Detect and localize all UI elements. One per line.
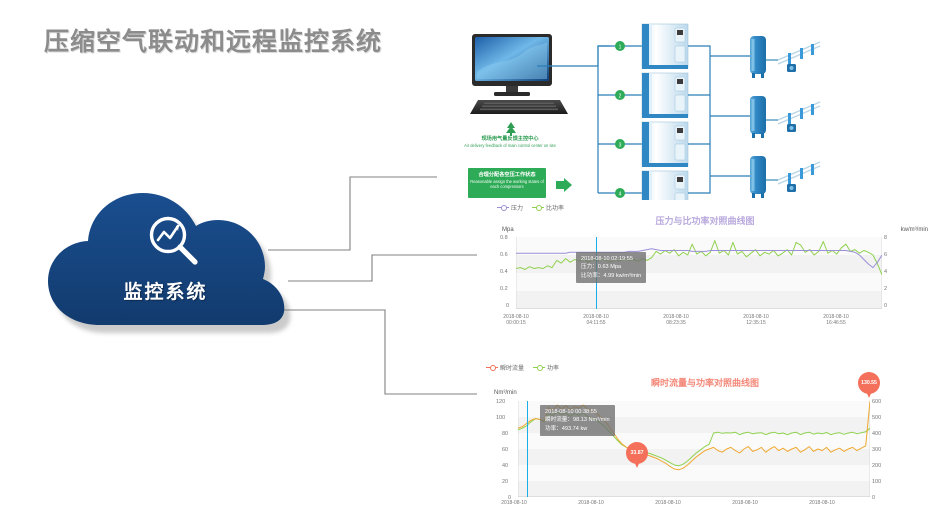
- monitoring-cloud[interactable]: 监控系统: [38, 185, 293, 335]
- chart1-legend-label-0: 压力: [511, 203, 523, 212]
- chart2-ytick-2: 40: [502, 463, 508, 469]
- chart1-tooltip-line2: 比功率：4.99 kw/m³/min: [581, 272, 641, 280]
- chart2-xtick-4-date: 2018-08-10: [809, 500, 835, 506]
- network-topology-svg: 1 2 3 4: [440, 18, 940, 208]
- chart2-xtick-1: 2018-08-10: [563, 500, 619, 506]
- chart1-legend-label-1: 比功率: [546, 203, 564, 212]
- chart1-xtick-4-time: 16:46:55: [826, 320, 845, 326]
- chart1-xtick-3: 2018-08-10 12:35:15: [728, 314, 784, 327]
- chart2-y2tick-4: 400: [872, 431, 881, 437]
- chart2-ytick-6: 120: [496, 399, 505, 405]
- chart1-xtick-1: 2018-08-10 04:11:55: [568, 314, 624, 327]
- chart1-xtick-1-time: 04:11:55: [586, 320, 605, 326]
- legend-marker-icon: [486, 365, 498, 371]
- chart1-xtick-1-date: 2018-08-10: [583, 314, 609, 320]
- chart1-y-axis-unit: Mpa: [502, 227, 514, 233]
- chart1-xtick-2: 2018-08-10 08:23:35: [648, 314, 704, 327]
- chart1-legend: 压力 比功率: [497, 203, 564, 212]
- chart2-tooltip-line1: 瞬时流量：98.13 Nm³/min: [545, 416, 610, 424]
- legend-marker-icon: [533, 365, 545, 371]
- chart1-y2tick-2: 4: [884, 269, 887, 275]
- chart1-xtick-2-time: 08:23:35: [666, 320, 685, 326]
- chart2-tooltip: 2018-08-10 00:38:55 瞬时流量：98.13 Nm³/min 功…: [540, 405, 615, 436]
- chart2-y2tick-3: 300: [872, 447, 881, 453]
- chart2-marker-max[interactable]: 130.55: [858, 372, 880, 400]
- chart2-xtick-1-date: 2018-08-10: [578, 500, 604, 506]
- chart1-ytick-4: 0.8: [500, 235, 508, 241]
- chart2-y2tick-0: 0: [872, 495, 875, 501]
- legend-marker-icon: [532, 205, 544, 211]
- chart1-legend-item-1[interactable]: 比功率: [532, 203, 564, 212]
- chart1-tooltip-timestamp: 2018-08-10 02:19:55: [581, 255, 641, 263]
- svg-text:2: 2: [619, 93, 622, 99]
- chart2-tooltip-timestamp: 2018-08-10 00:38:55: [545, 408, 610, 416]
- chart2-xtick-0-date: 2018-08-10: [501, 500, 527, 506]
- chart1-xtick-3-date: 2018-08-10: [743, 314, 769, 320]
- chart2-xtick-2-date: 2018-08-10: [655, 500, 681, 506]
- chart1-legend-item-0[interactable]: 压力: [497, 203, 523, 212]
- air-compressor-group: [642, 24, 688, 208]
- chart2-tooltip-line2: 功率：493.74 kw: [545, 425, 610, 433]
- chart-pressure-panel: 压力 比功率 压力与比功率对照曲线图 Mpa kw/m³/min 0.8 0.6…: [480, 200, 930, 335]
- svg-text:4: 4: [619, 191, 622, 197]
- chart1-y2tick-4: 8: [884, 235, 887, 241]
- chart2-xtick-2: 2018-08-10: [640, 500, 696, 506]
- chart2-marker-min-label: 33.87: [631, 450, 644, 456]
- chart2-legend-label-1: 功率: [547, 363, 559, 372]
- chart2-xtick-3: 2018-08-10: [717, 500, 773, 506]
- chart1-xtick-2-date: 2018-08-10: [663, 314, 689, 320]
- chart1-xtick-4-date: 2018-08-10: [823, 314, 849, 320]
- chart1-ytick-0: 0: [506, 303, 509, 309]
- slide-root: 压缩空气联动和远程监控系统 监控系统: [0, 0, 945, 529]
- chart1-xtick-4: 2018-08-10 16:46:55: [808, 314, 864, 327]
- svg-text:1: 1: [619, 44, 622, 50]
- chart1-y2tick-1: 2: [884, 286, 887, 292]
- chart1-xtick-0: 2018-08-10 00:00:15: [488, 314, 544, 327]
- chart2-y2tick-5: 500: [872, 415, 881, 421]
- chart2-y2tick-1: 100: [872, 479, 881, 485]
- chart2-legend: 瞬时流量 功率: [486, 363, 559, 372]
- chart2-marker-max-label: 130.55: [861, 380, 877, 386]
- chart2-legend-item-0[interactable]: 瞬时流量: [486, 363, 524, 372]
- chart2-legend-item-1[interactable]: 功率: [533, 363, 559, 372]
- chart1-xtick-0-date: 2018-08-10: [503, 314, 529, 320]
- pin-bubble-icon: 130.55: [858, 372, 880, 394]
- chart2-y2tick-2: 200: [872, 463, 881, 469]
- legend-marker-icon: [497, 205, 509, 211]
- chart2-cursor-line[interactable]: [527, 401, 528, 497]
- chart1-xtick-3-time: 12:35:15: [746, 320, 765, 326]
- pin-bubble-icon: 33.87: [626, 442, 648, 464]
- chart1-ytick-1: 0.2: [500, 286, 508, 292]
- chart2-legend-label-0: 瞬时流量: [500, 363, 524, 372]
- chart1-ytick-3: 0.6: [500, 252, 508, 258]
- chart1-tooltip-line1: 压力：0.63 Mpa: [581, 263, 641, 271]
- chart2-ytick-1: 20: [502, 479, 508, 485]
- chart2-ytick-5: 100: [496, 415, 505, 421]
- chart1-plot[interactable]: [516, 237, 882, 309]
- chart2-ytick-3: 60: [502, 447, 508, 453]
- cloud-label: 监控系统: [38, 277, 293, 304]
- chart1-y2tick-3: 6: [884, 252, 887, 258]
- network-node-group: 1 2 3 4: [615, 41, 625, 198]
- svg-text:3: 3: [619, 142, 622, 148]
- chart1-title: 压力与比功率对照曲线图: [480, 214, 930, 227]
- chart1-ytick-2: 0.4: [500, 269, 508, 275]
- chart2-xtick-3-date: 2018-08-10: [732, 500, 758, 506]
- chart2-marker-min[interactable]: 33.87: [626, 442, 648, 470]
- chart2-xtick-0: 2018-08-10: [486, 500, 542, 506]
- chart-flow-panel: 瞬时流量 功率 瞬时流量与功率对照曲线图 Nm³/min 120 100 80 …: [480, 360, 930, 510]
- chart2-xtick-4: 2018-08-10: [794, 500, 850, 506]
- chart1-y2-axis-unit: kw/m³/min: [901, 227, 928, 233]
- topology-diagram: 现场用气量反馈主控中心 Air delivery feedback of mai…: [440, 18, 940, 203]
- chart1-tooltip: 2018-08-10 02:19:55 压力：0.63 Mpa 比功率：4.99…: [576, 252, 646, 283]
- chart1-y2tick-0: 0: [884, 303, 887, 309]
- magnifier-chart-icon: [145, 212, 203, 270]
- chart1-xtick-0-time: 00:00:15: [506, 320, 525, 326]
- chart2-ytick-4: 80: [502, 431, 508, 437]
- chart2-y-axis-unit: Nm³/min: [494, 390, 517, 396]
- air-tank-group: [750, 36, 820, 198]
